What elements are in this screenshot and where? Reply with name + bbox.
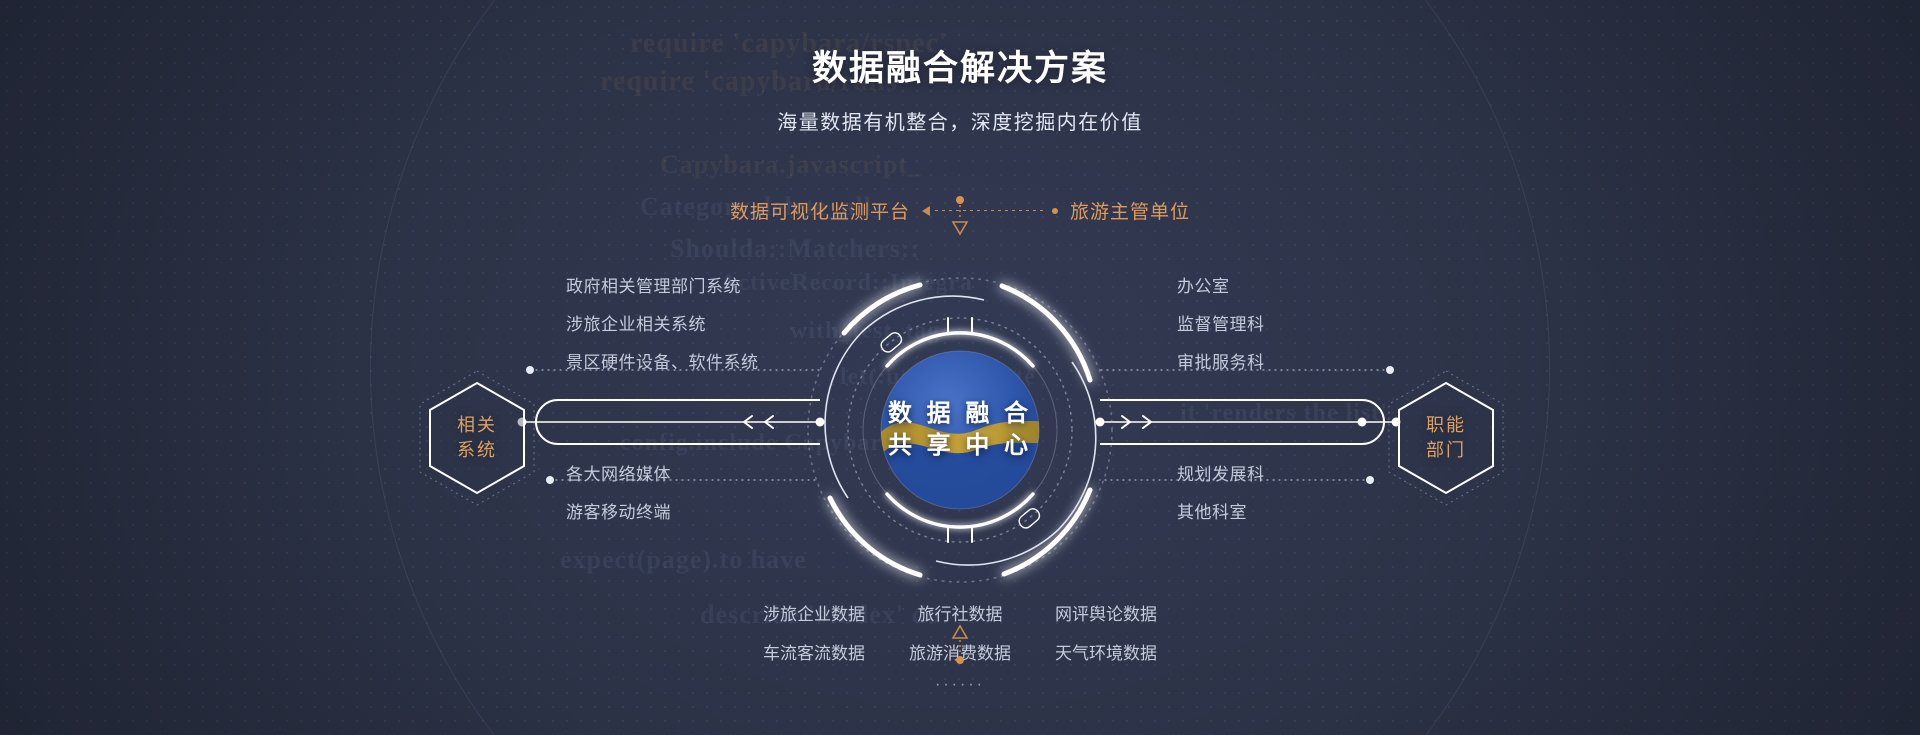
data-visualization-platform-label: 数据可视化监测平台: [730, 197, 910, 224]
dotted-arrow-left-icon: [922, 205, 1058, 217]
triangle-up-icon: [950, 620, 970, 664]
hub-center-label: 数 据 融 合 共 享 中 心: [770, 398, 1150, 462]
hexagon-related-systems[interactable]: 相关 系统: [414, 368, 540, 508]
list-item: 天气环境数据: [1055, 639, 1157, 664]
hexagon-left-line2: 系统: [414, 438, 540, 463]
hub-label-line2: 共 享 中 心: [770, 430, 1150, 462]
triangle-down-icon: [950, 196, 970, 240]
bottom-ellipsis: ······: [935, 676, 985, 694]
list-item: 办公室: [1177, 272, 1265, 297]
tourism-authority-label: 旅游主管单位: [1070, 197, 1190, 224]
hexagon-right-line1: 职能: [1383, 413, 1509, 438]
hexagon-right-label: 职能 部门: [1383, 413, 1509, 463]
hexagon-functional-departments[interactable]: 职能 部门: [1383, 368, 1509, 508]
list-item: 车流客流数据: [763, 639, 865, 664]
page-subtitle: 海量数据有机整合，深度挖掘内在价值: [0, 106, 1920, 135]
hexagon-left-label: 相关 系统: [414, 413, 540, 463]
list-item: 监督管理科: [1177, 310, 1265, 335]
infographic-stage: require 'capybara/rspec' require 'capyba…: [0, 0, 1920, 735]
hexagon-right-line2: 部门: [1383, 438, 1509, 463]
data-fusion-hub: 数 据 融 合 共 享 中 心: [770, 240, 1150, 620]
hub-label-line1: 数 据 融 合: [770, 398, 1150, 430]
list-item: 涉旅企业相关系统: [566, 310, 759, 335]
page-title: 数据融合解决方案: [0, 40, 1920, 91]
list-item: 政府相关管理部门系统: [566, 272, 759, 297]
hexagon-left-line1: 相关: [414, 413, 540, 438]
